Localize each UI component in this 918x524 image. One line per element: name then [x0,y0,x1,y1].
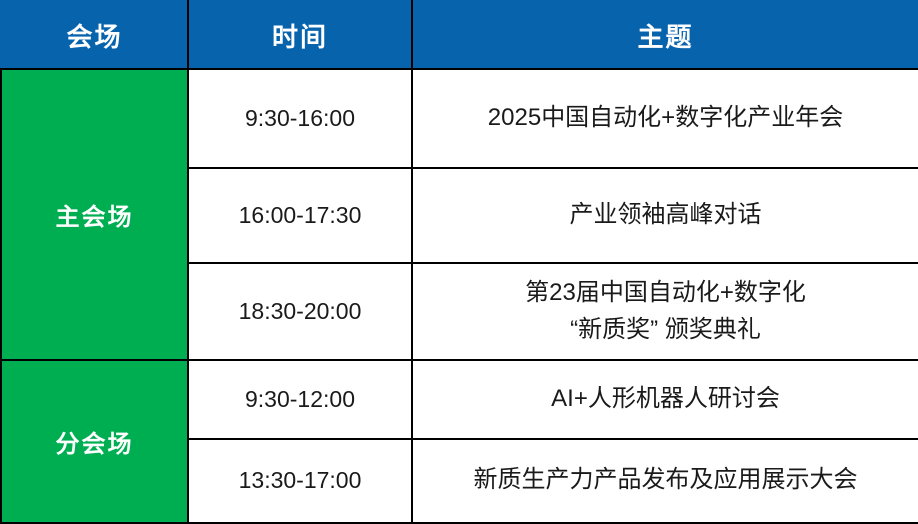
topic-cell: 第23届中国自动化+数字化 “新质奖” 颁奖典礼 [412,263,918,359]
time-cell: 9:30-16:00 [188,69,412,168]
header-topic: 主题 [412,1,918,69]
topic-cell: 新质生产力产品发布及应用展示大会 [412,439,918,523]
header-time: 时间 [188,1,412,69]
conference-schedule-table: 会场 时间 主题 主会场 9:30-16:00 2025中国自动化+数字化产业年… [0,0,918,524]
time-cell: 13:30-17:00 [188,439,412,523]
topic-cell: 产业领袖高峰对话 [412,168,918,263]
time-cell: 18:30-20:00 [188,263,412,359]
time-cell: 16:00-17:30 [188,168,412,263]
topic-cell: AI+人形机器人研讨会 [412,360,918,439]
topic-line: 第23届中国自动化+数字化 [413,276,918,311]
topic-line: 产业领袖高峰对话 [413,198,918,233]
topic-cell: 2025中国自动化+数字化产业年会 [412,69,918,168]
topic-line: AI+人形机器人研讨会 [413,382,918,417]
time-cell: 9:30-12:00 [188,360,412,439]
topic-line: 新质生产力产品发布及应用展示大会 [413,463,918,498]
topic-line: “新质奖” 颁奖典礼 [413,313,918,348]
venue-cell-main: 主会场 [1,69,188,360]
table-row: 分会场 9:30-12:00 AI+人形机器人研讨会 [1,360,918,439]
table-row: 主会场 9:30-16:00 2025中国自动化+数字化产业年会 [1,69,918,168]
venue-cell-branch: 分会场 [1,360,188,523]
header-venue: 会场 [1,1,188,69]
table-header-row: 会场 时间 主题 [1,1,918,69]
topic-line: 2025中国自动化+数字化产业年会 [413,101,918,136]
